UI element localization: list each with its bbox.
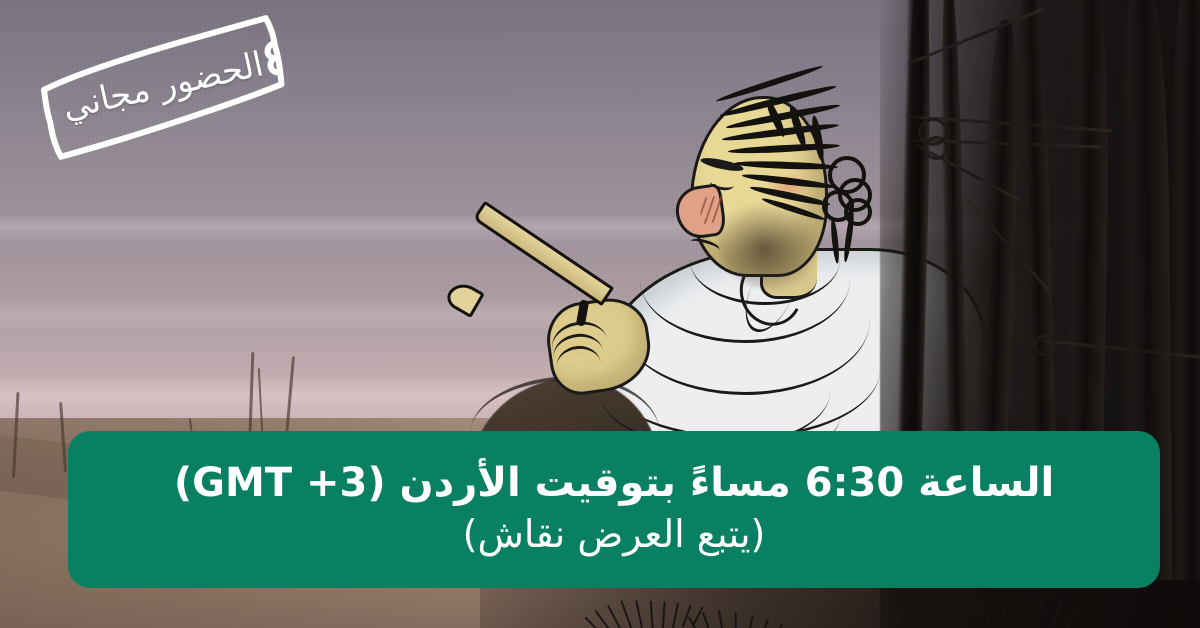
poster-canvas: الحضور مجاني الساعة 6:30 مساءً بتوقيت ال… bbox=[0, 0, 1200, 628]
event-time-banner: الساعة 6:30 مساءً بتوقيت الأردن (GMT +3)… bbox=[68, 431, 1160, 588]
wire-knot-3 bbox=[1034, 334, 1056, 356]
reed-7 bbox=[1170, 0, 1200, 620]
banner-time-line: الساعة 6:30 مساءً بتوقيت الأردن (GMT +3) bbox=[174, 461, 1054, 506]
banner-note-line: (يتبع العرض نقاش) bbox=[463, 512, 766, 558]
wire-knot-2 bbox=[924, 136, 948, 160]
reed-pen-nib bbox=[443, 278, 485, 318]
reed-pen bbox=[473, 201, 615, 306]
hair bbox=[716, 92, 852, 222]
